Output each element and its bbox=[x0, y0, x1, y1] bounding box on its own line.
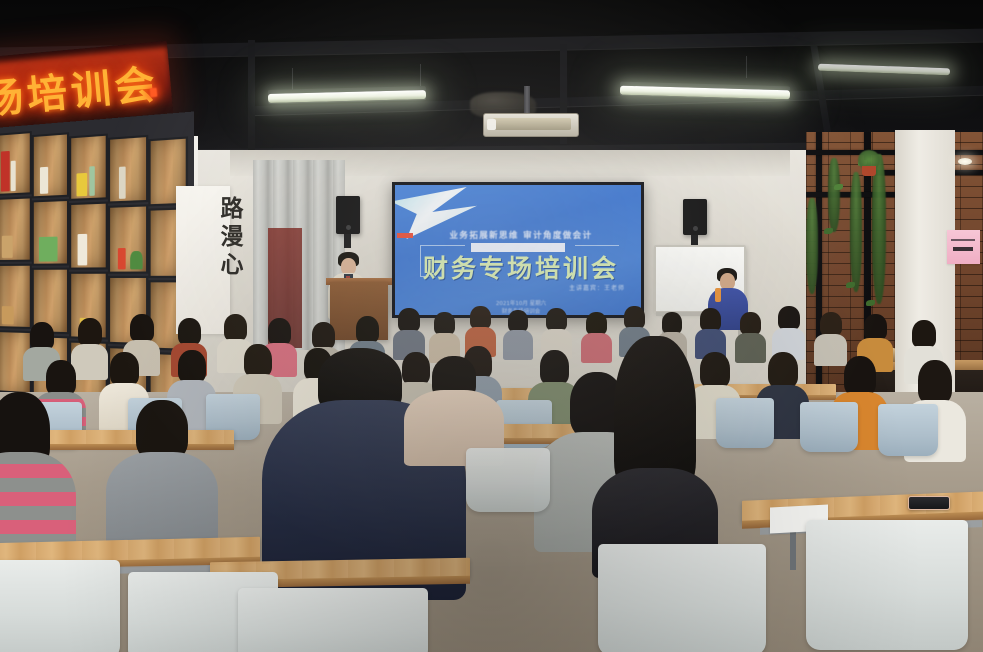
audience-head bbox=[586, 312, 607, 335]
slide-title: 财务专场培训会 bbox=[395, 249, 641, 285]
audience-head bbox=[78, 318, 102, 346]
audience-head bbox=[918, 360, 952, 404]
audience-head bbox=[30, 322, 54, 350]
audience-head bbox=[434, 312, 455, 335]
foreground-chair[interactable] bbox=[598, 544, 766, 652]
audience-body bbox=[814, 334, 847, 366]
light-stem bbox=[420, 64, 421, 86]
audience-head bbox=[778, 306, 800, 330]
wall-speaker-left bbox=[336, 196, 360, 234]
wall-calligraphy-scroll: 路漫心 bbox=[176, 186, 230, 334]
training-room-photo: 场培训会 bbox=[0, 0, 983, 652]
slide-subtitle: 业务拓展新思维 审计角度做会计 bbox=[395, 229, 641, 241]
audience-head bbox=[844, 356, 876, 396]
audience-head bbox=[244, 344, 272, 377]
audience-head bbox=[402, 352, 430, 385]
attendee-body bbox=[106, 452, 218, 550]
audience-head bbox=[740, 312, 761, 335]
foreground-chair[interactable] bbox=[806, 520, 968, 650]
ceiling-projector bbox=[483, 113, 579, 137]
audience-head bbox=[470, 306, 491, 329]
audience-head bbox=[110, 352, 139, 386]
slide-surface: 业务拓展新思维 审计角度做会计 财务专场培训会 主讲嘉宾：王老师 2021年10… bbox=[395, 185, 641, 315]
audience-head bbox=[820, 312, 842, 336]
shelf-cubby bbox=[69, 201, 108, 269]
foreground-chair[interactable] bbox=[466, 448, 550, 512]
audience-head bbox=[130, 314, 154, 342]
audience-chair[interactable] bbox=[878, 404, 938, 456]
hanging-plant bbox=[828, 158, 840, 232]
audience-head bbox=[178, 318, 201, 345]
audience-body bbox=[503, 330, 533, 360]
slide-byline: 主讲嘉宾：王老师 bbox=[569, 283, 625, 292]
slide-rule bbox=[575, 245, 619, 246]
audience-head bbox=[700, 308, 721, 331]
audience-head bbox=[224, 314, 247, 341]
audience-head bbox=[768, 352, 798, 388]
speaker-mount bbox=[344, 234, 351, 248]
calligraphy-text: 路漫心 bbox=[191, 196, 245, 280]
audience-head bbox=[356, 316, 379, 343]
audience-head bbox=[624, 306, 645, 329]
table-leg bbox=[790, 530, 796, 570]
audience-head bbox=[864, 314, 887, 340]
projector-mount bbox=[524, 86, 530, 116]
shelf-cubby bbox=[0, 264, 32, 329]
audience-body bbox=[735, 333, 766, 363]
shelf-cubby bbox=[69, 133, 108, 200]
light-stem bbox=[746, 56, 747, 78]
projector-lens bbox=[487, 119, 496, 130]
hanging-plant bbox=[850, 172, 862, 292]
light-stem bbox=[292, 68, 293, 90]
slide-footer-date: 2021年10月 星期六 bbox=[395, 300, 641, 308]
audience-head bbox=[398, 308, 420, 332]
ceiling-tube-light bbox=[818, 64, 950, 76]
audience-head bbox=[312, 322, 335, 349]
projection-screen: 业务拓展新思维 审计角度做会计 财务专场培训会 主讲嘉宾：王老师 2021年10… bbox=[392, 182, 644, 318]
audience-chair[interactable] bbox=[716, 398, 774, 448]
audience-head bbox=[546, 308, 567, 331]
ceiling-beam bbox=[248, 40, 255, 152]
microphone bbox=[715, 288, 721, 302]
audience-head bbox=[662, 312, 682, 334]
notice-card bbox=[947, 230, 980, 264]
recessed-ceiling-light bbox=[958, 158, 972, 165]
hanging-plant bbox=[872, 154, 886, 304]
led-indicator-light bbox=[150, 88, 158, 98]
audience-head bbox=[268, 318, 291, 345]
audience-body bbox=[581, 333, 612, 363]
shelf-cubby bbox=[108, 204, 148, 274]
audience-head bbox=[700, 352, 730, 388]
audience-chair[interactable] bbox=[800, 402, 858, 452]
audience-head bbox=[178, 350, 206, 383]
hanging-plant bbox=[806, 198, 818, 294]
audience-body bbox=[71, 344, 108, 380]
shelf-cubby bbox=[0, 131, 32, 196]
shelf-cubby bbox=[0, 196, 32, 262]
audience-head bbox=[912, 320, 936, 348]
foreground-chair[interactable] bbox=[238, 588, 428, 652]
foreground-chair[interactable] bbox=[0, 560, 120, 652]
smartphone-on-table[interactable] bbox=[908, 496, 950, 510]
attendee-hair bbox=[136, 400, 188, 460]
shelf-cubby bbox=[108, 135, 148, 204]
audience-head bbox=[46, 360, 76, 396]
wall-speaker-right bbox=[683, 199, 707, 235]
audience-head bbox=[508, 310, 528, 332]
audience-head bbox=[540, 350, 569, 385]
shelf-cubby bbox=[32, 199, 69, 266]
plant-pot bbox=[862, 166, 876, 176]
shelf-cubby bbox=[32, 132, 69, 198]
